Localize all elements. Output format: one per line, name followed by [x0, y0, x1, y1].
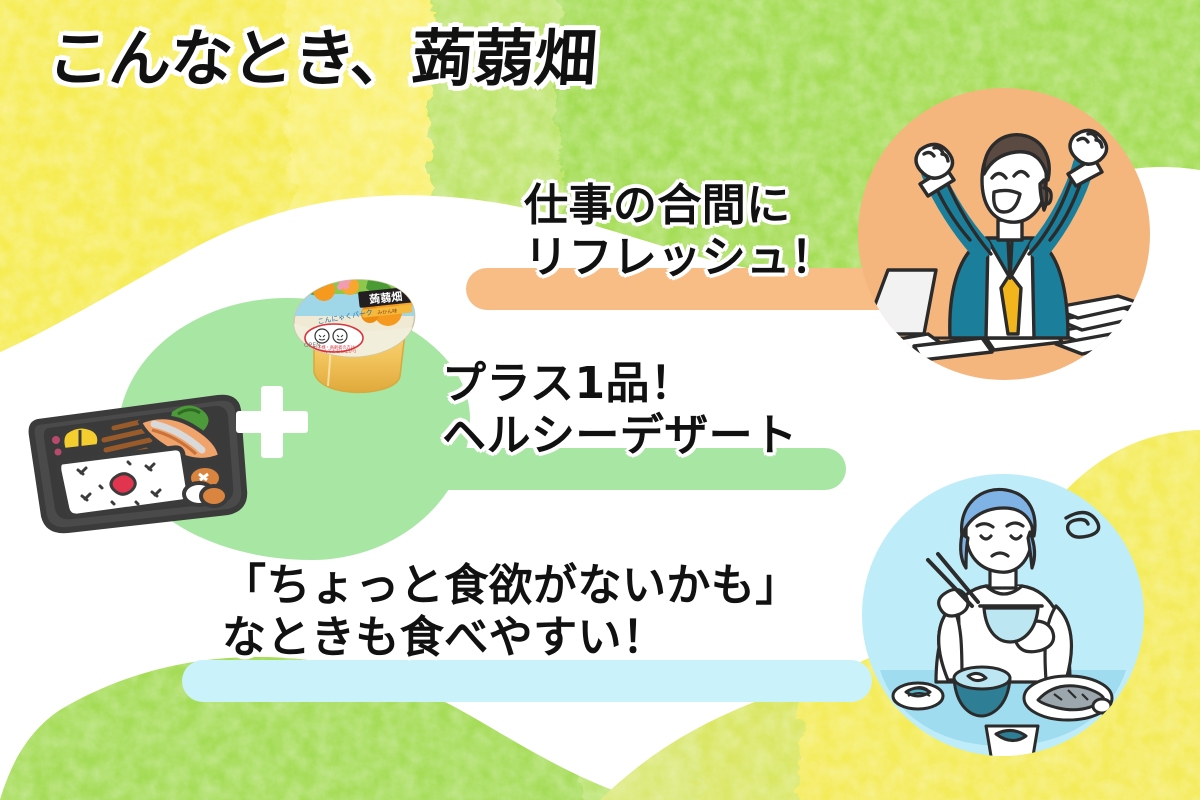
caption-plus-one-item: プラス1品！ ヘルシーデザート — [442, 358, 798, 462]
cup-open-tab: OPEN — [304, 342, 321, 349]
illustration-tired-person — [862, 474, 1144, 756]
caption-no-appetite: 「ちょっと食欲がないかも」 なときも食べやすい！ — [222, 560, 800, 664]
ribbon-no-appetite — [182, 660, 872, 702]
poster-canvas: 蒟蒻畑 みかん味 こんにゃくパーク お子様・高齢者の方は よくか — [0, 0, 1200, 800]
bento-box-illustration — [22, 378, 254, 534]
page-title: こんなとき、蒟蒻畑 — [45, 22, 598, 95]
konnyaku-jelly-cup-illustration: 蒟蒻畑 みかん味 こんにゃくパーク お子様・高齢者の方は よくか — [272, 268, 432, 398]
plus-symbol — [232, 382, 312, 462]
caption-work-break: 仕事の合間に リフレッシュ！ — [524, 180, 835, 284]
illustration-businessman — [858, 88, 1150, 380]
